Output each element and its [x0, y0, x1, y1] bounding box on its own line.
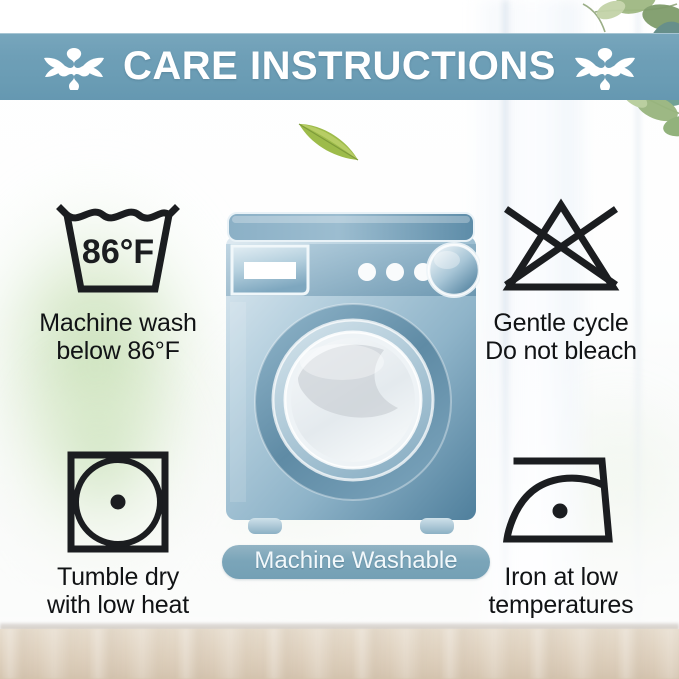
washtub-icon: 86°F — [8, 193, 228, 303]
machine-washable-badge-label: Machine Washable — [254, 549, 457, 575]
page-title: CARE INSTRUCTIONS — [123, 46, 556, 88]
care-symbol-label-do-not-bleach: Gentle cycle Do not bleach — [451, 309, 671, 365]
fleur-de-lis-icon-right — [574, 44, 636, 90]
table-wood-grain — [0, 629, 679, 679]
crossed-triangle-icon — [451, 193, 671, 303]
care-symbol-label-tumble-dry: Tumble dry with low heat — [8, 563, 228, 619]
care-symbol-tumble-dry: Tumble dry with low heat — [8, 447, 228, 619]
washtub-temperature-text: 86°F — [82, 233, 154, 271]
washing-machine-illustration — [222, 210, 480, 542]
care-instructions-card: CARE INSTRUCTIONS 86°F Machine wash bel — [0, 0, 679, 679]
leaf-icon — [296, 118, 362, 164]
care-symbol-machine-wash: 86°F Machine wash below 86°F — [8, 193, 228, 365]
care-symbol-iron-low: Iron at low temperatures — [451, 447, 671, 619]
tumble-dry-low-icon — [8, 447, 228, 557]
iron-one-dot-icon — [451, 447, 671, 557]
fleur-de-lis-icon-left — [43, 44, 105, 90]
care-symbol-do-not-bleach: Gentle cycle Do not bleach — [451, 193, 671, 365]
header-banner: CARE INSTRUCTIONS — [0, 33, 679, 100]
care-symbol-label-machine-wash: Machine wash below 86°F — [8, 309, 228, 365]
machine-washable-badge: Machine Washable — [222, 545, 490, 579]
